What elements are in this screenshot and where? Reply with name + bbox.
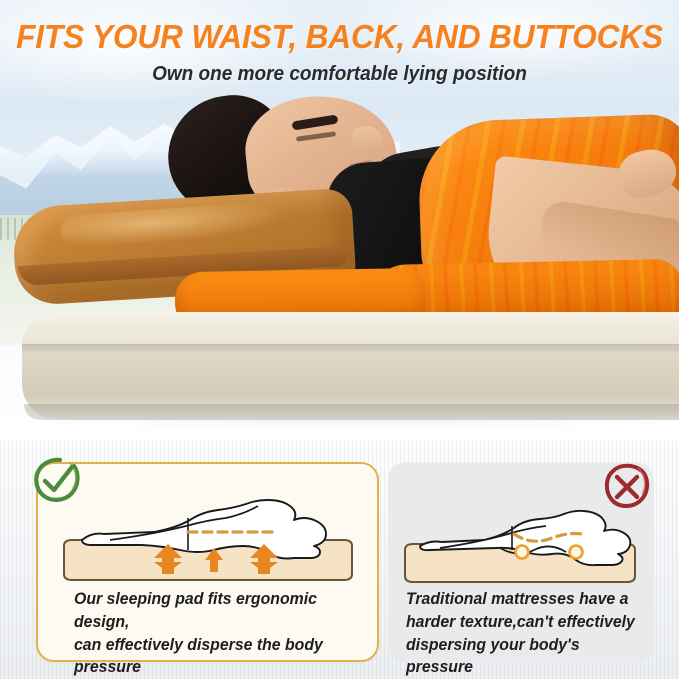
sleeping-pad-top-surface (22, 312, 679, 348)
caption-good-line-2: can effectively disperse the body pressu… (74, 634, 362, 679)
caption-bad-line-1: Traditional mattresses have a (406, 588, 646, 611)
product-infographic: FITS YOUR WAIST, BACK, AND BUTTOCKS Own … (0, 0, 679, 679)
caption-bad: Traditional mattresses have a harder tex… (406, 588, 646, 679)
caption-good-line-1: Our sleeping pad fits ergonomic design, (74, 588, 362, 634)
diagram-ergonomic-support (58, 488, 358, 588)
check-circle-icon (30, 454, 84, 508)
page-title: FITS YOUR WAIST, BACK, AND BUTTOCKS (14, 18, 666, 56)
caption-bad-line-2: harder texture,can't effectively (406, 611, 646, 634)
header-block: FITS YOUR WAIST, BACK, AND BUTTOCKS Own … (0, 18, 679, 86)
page-subtitle: Own one more comfortable lying position (17, 63, 662, 86)
hero-bottom-fade (0, 396, 679, 440)
caption-good: Our sleeping pad fits ergonomic design, … (74, 588, 362, 679)
x-circle-icon (600, 460, 654, 514)
caption-bad-line-3: dispersing your body's pressure (406, 634, 646, 679)
sleeping-pad-seam (22, 344, 679, 353)
comparison-section: Our sleeping pad fits ergonomic design, … (0, 440, 679, 679)
